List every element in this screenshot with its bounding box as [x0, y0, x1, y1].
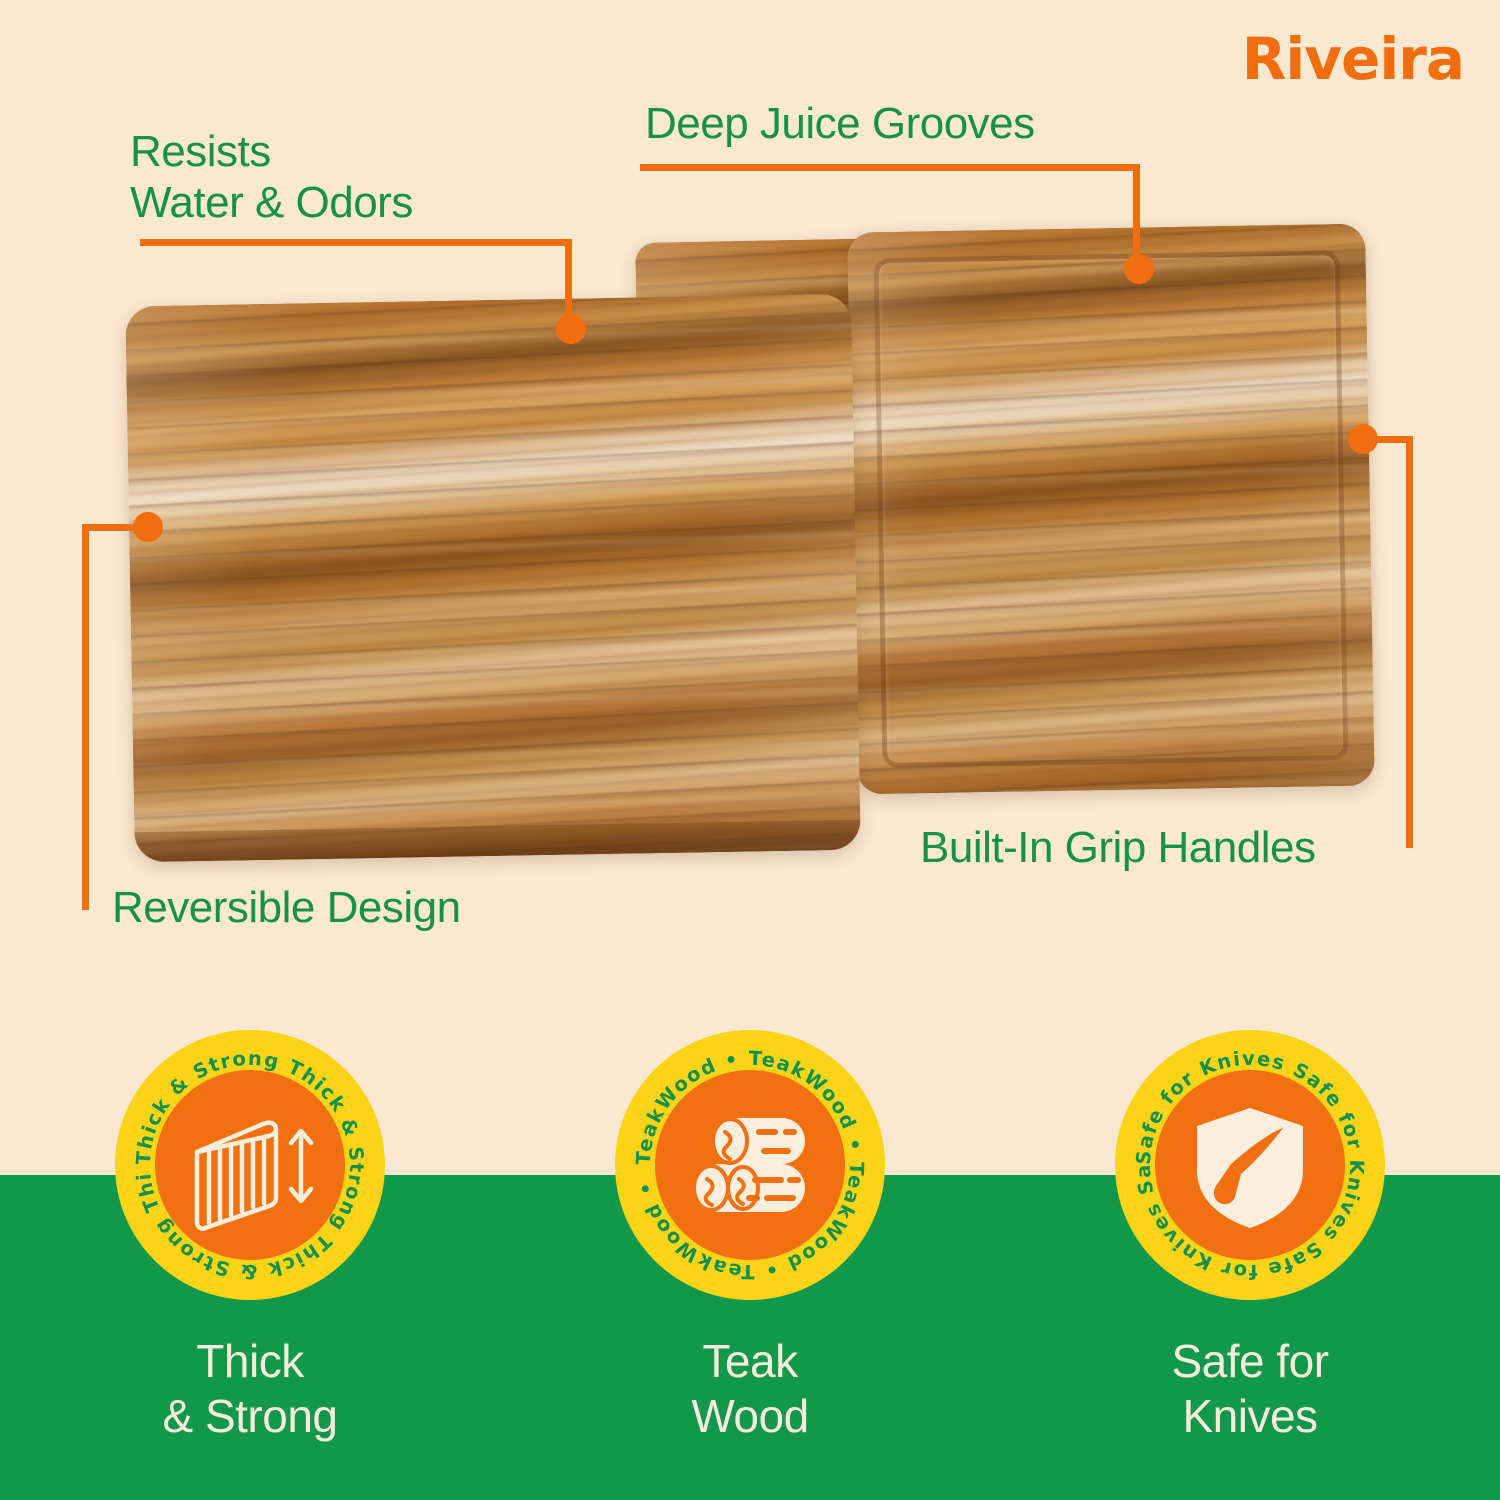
- connector-grooves-horizontal: [640, 164, 1140, 171]
- callout-label-reversible-design: Reversible Design: [112, 882, 461, 933]
- wood-grain-texture: [125, 294, 861, 863]
- connector-reversible-vertical: [82, 524, 89, 910]
- callout-dot-resists: [556, 314, 586, 344]
- callout-dot-grooves: [1124, 254, 1154, 284]
- badge-teak-wood: TeakWood • TeakWood • TeakWood • TeakWoo…: [540, 1030, 960, 1444]
- board-sheen: [847, 224, 1375, 795]
- cutting-board-right-groove-side: [847, 224, 1375, 795]
- callout-label-deep-juice-grooves: Deep Juice Grooves: [645, 98, 1035, 149]
- juice-groove: [874, 250, 1349, 768]
- shield-knife-icon: [1175, 1090, 1325, 1240]
- board-bottom-edge: [134, 820, 860, 863]
- feature-badges-row: Thick & Strong Thick & Strong Thick & St…: [0, 1030, 1500, 1500]
- callout-dot-reversible: [133, 512, 163, 542]
- brand-logo: Riveira: [1242, 30, 1464, 88]
- seal-inner-teak-wood: [655, 1070, 845, 1260]
- wood-grain-texture: [847, 224, 1375, 795]
- callout-label-resists-water-odors: Resists Water & Odors: [130, 126, 413, 229]
- badge-thick-and-strong: Thick & Strong Thick & Strong Thick & St…: [40, 1030, 460, 1444]
- board-thickness-icon: [175, 1090, 325, 1240]
- badge-caption-teak-wood: Teak Wood: [691, 1334, 808, 1444]
- connector-handles-vertical: [1406, 436, 1413, 848]
- seal-teak-wood: TeakWood • TeakWood • TeakWood • TeakWoo…: [615, 1030, 885, 1300]
- badge-caption-thick-and-strong: Thick & Strong: [163, 1334, 338, 1444]
- stacked-logs-icon: [675, 1090, 825, 1240]
- seal-inner-safe-for-knives: [1155, 1070, 1345, 1260]
- callout-dot-handles: [1348, 424, 1378, 454]
- badge-safe-for-knives: Safe for Knives Safe for Knives Safe for…: [1040, 1030, 1460, 1444]
- infographic-stage: Riveira Resists Water & Odors Deep Juice…: [0, 0, 1500, 1500]
- seal-inner-thick-and-strong: [155, 1070, 345, 1260]
- badge-caption-safe-for-knives: Safe for Knives: [1171, 1334, 1328, 1444]
- board-sheen: [125, 294, 861, 863]
- seal-safe-for-knives: Safe for Knives Safe for Knives Safe for…: [1115, 1030, 1385, 1300]
- seal-thick-and-strong: Thick & Strong Thick & Strong Thick & St…: [115, 1030, 385, 1300]
- cutting-board-left-flat-side: [125, 294, 861, 863]
- callout-label-built-in-grip-handles: Built-In Grip Handles: [920, 822, 1315, 873]
- connector-resists-horizontal: [140, 239, 572, 246]
